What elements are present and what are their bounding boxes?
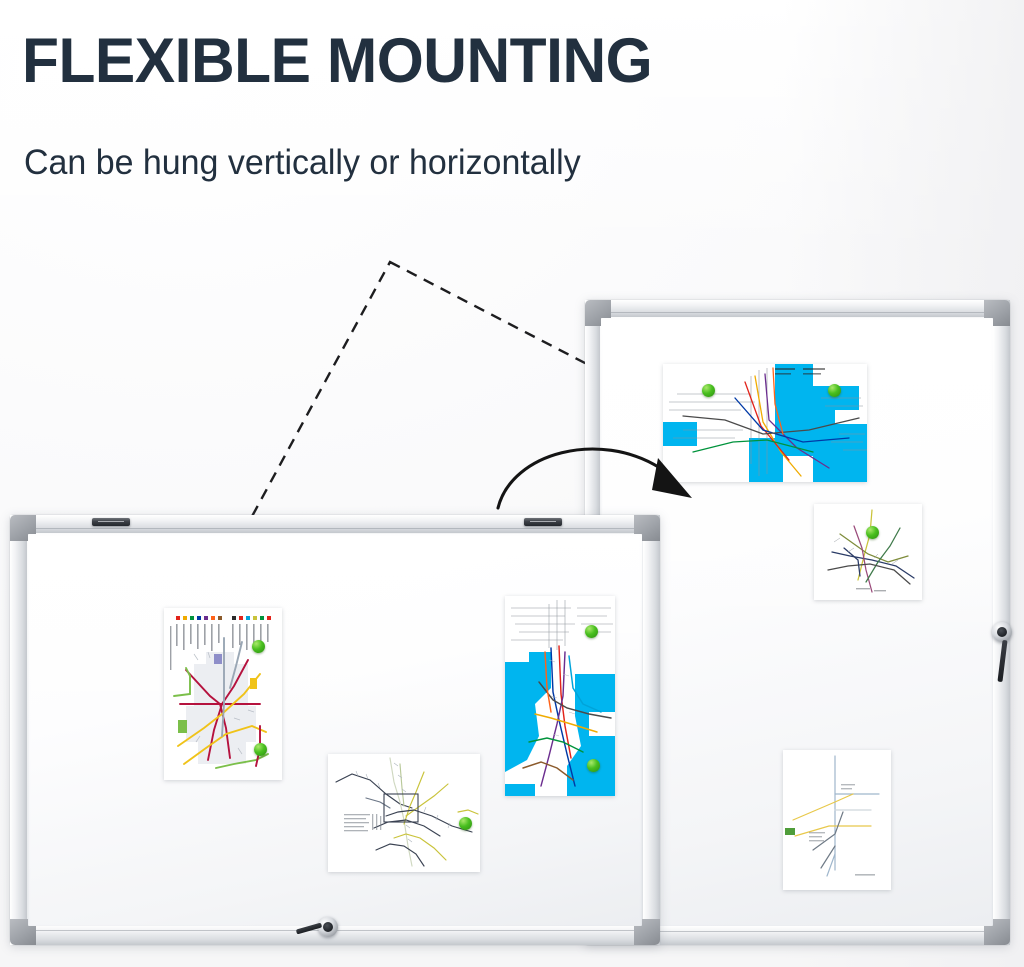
poster-artwork xyxy=(783,750,891,890)
poster-regional-lines xyxy=(783,750,891,890)
page-subtitle: Can be hung vertically or horizontally xyxy=(24,142,581,184)
poster-artwork xyxy=(663,364,867,482)
lock-keyhole xyxy=(323,922,333,932)
poster-subway-waterfront-2 xyxy=(663,364,867,482)
poster-artwork xyxy=(814,504,922,600)
vertical-board-rail-groove-top xyxy=(601,312,994,313)
horizontal-board-rail-right xyxy=(643,515,660,945)
lock-keyhole xyxy=(997,627,1007,637)
magnet-green xyxy=(585,625,598,638)
poster-artwork xyxy=(328,754,480,872)
magnet-green xyxy=(587,759,600,772)
horizontal-board-hinge-right xyxy=(524,518,562,526)
poster-rail-network xyxy=(328,754,480,872)
product-feature-image: FLEXIBLE MOUNTING Can be hung vertically… xyxy=(0,0,1024,967)
horizontal-board-hinge-left xyxy=(92,518,130,526)
vertical-board-rail-top xyxy=(585,300,1010,317)
horizontal-board-rail-left xyxy=(10,515,27,945)
magnet-green xyxy=(702,384,715,397)
magnet-green xyxy=(252,640,265,653)
magnet-green xyxy=(254,743,267,756)
poster-metro-olive xyxy=(814,504,922,600)
magnet-green xyxy=(459,817,472,830)
vertical-board-lock[interactable] xyxy=(992,622,1012,642)
horizontal-board-rail-groove-top xyxy=(28,528,642,529)
page-title: FLEXIBLE MOUNTING xyxy=(22,28,652,94)
magnet-green xyxy=(866,526,879,539)
magnet-green xyxy=(828,384,841,397)
horizontal-board[interactable] xyxy=(10,515,660,945)
horizontal-board-surface xyxy=(28,534,642,926)
